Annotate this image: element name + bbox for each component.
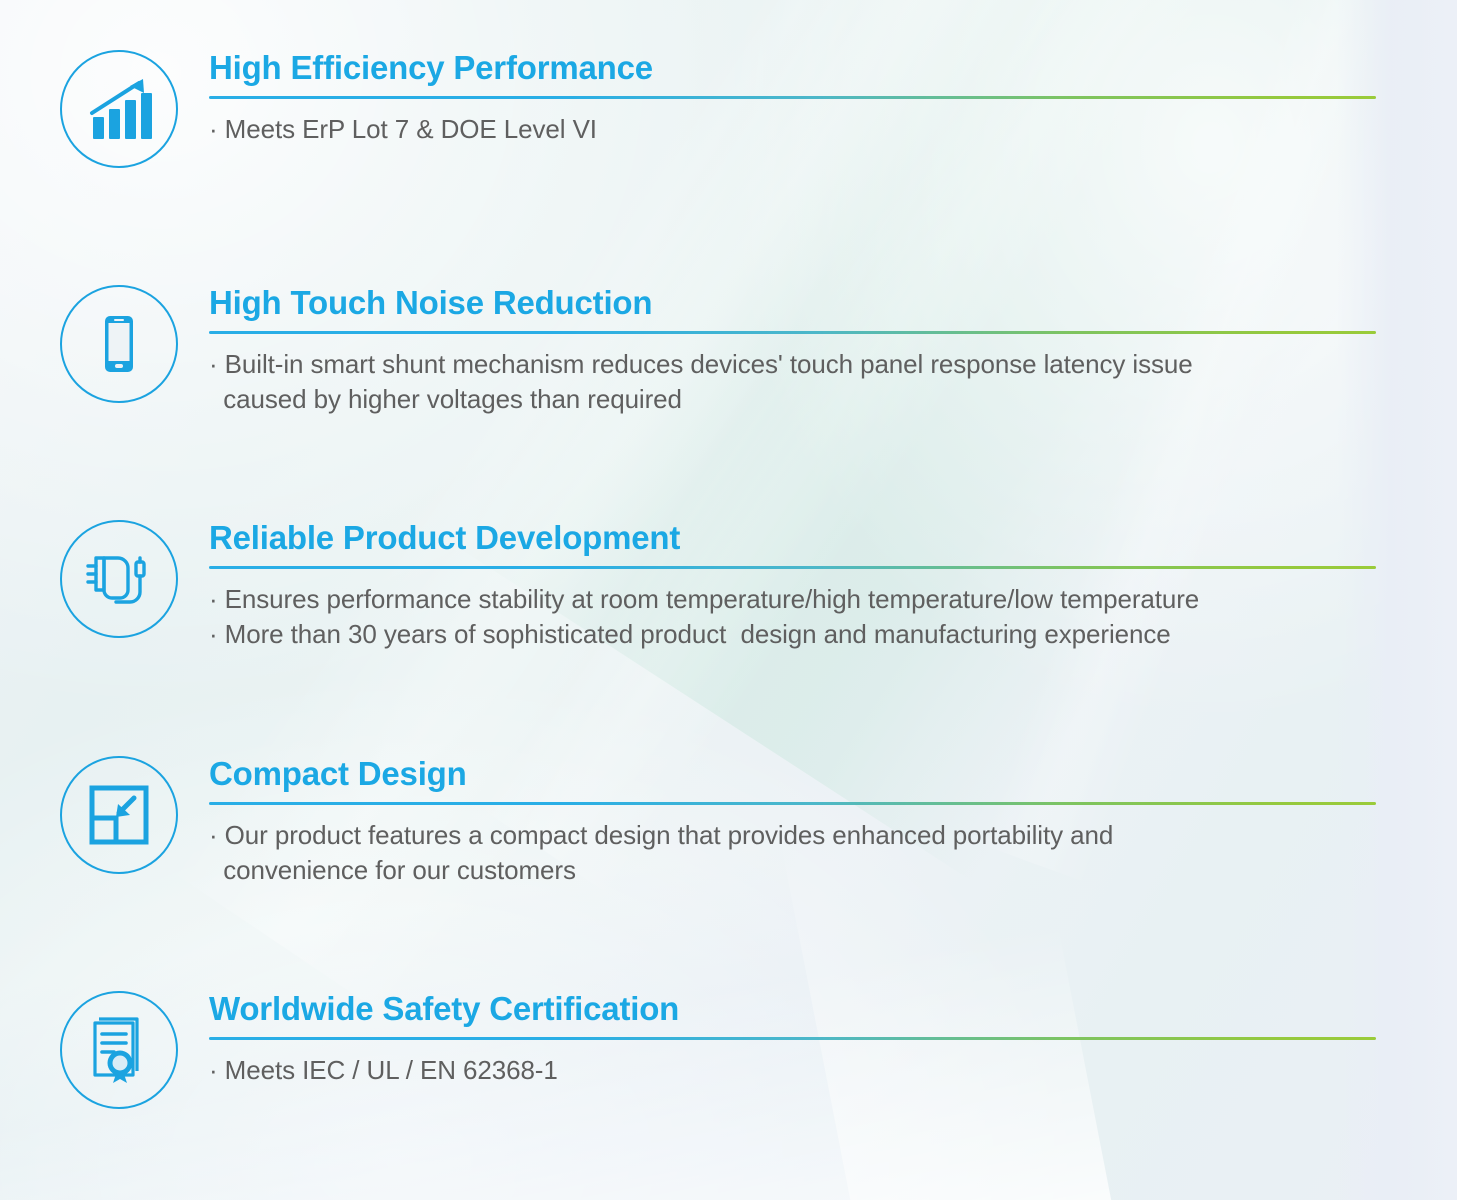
feature-divider (209, 1037, 1376, 1040)
feature-bullet: · Our product features a compact design … (209, 818, 1389, 853)
feature-icon-circle (60, 520, 178, 638)
feature-bullets: · Built-in smart shunt mechanism reduces… (209, 347, 1389, 416)
compact-resize-icon (88, 784, 150, 846)
feature-title: Worldwide Safety Certification (209, 991, 1389, 1028)
feature-divider (209, 96, 1376, 99)
feature-divider (209, 802, 1376, 805)
bar-chart-growth-icon (83, 73, 155, 145)
feature-title: Reliable Product Development (209, 520, 1389, 557)
feature-content: High Touch Noise Reduction · Built-in sm… (209, 285, 1389, 416)
feature-bullet: · Built-in smart shunt mechanism reduces… (209, 347, 1389, 382)
feature-icon-circle (60, 756, 178, 874)
certificate-seal-icon (87, 1017, 151, 1083)
feature-content: Compact Design · Our product features a … (209, 756, 1389, 887)
feature-content: Reliable Product Development · Ensures p… (209, 520, 1389, 651)
feature-bullet: caused by higher voltages than required (209, 382, 1389, 417)
power-adapter-icon (82, 544, 156, 614)
feature-content: Worldwide Safety Certification · Meets I… (209, 991, 1389, 1088)
feature-divider (209, 331, 1376, 334)
feature-title: Compact Design (209, 756, 1389, 793)
feature-bullets: · Meets ErP Lot 7 & DOE Level VI (209, 112, 1389, 147)
feature-bullet: · More than 30 years of sophisticated pr… (209, 617, 1389, 652)
feature-bullets: · Meets IEC / UL / EN 62368-1 (209, 1053, 1389, 1088)
feature-title: High Efficiency Performance (209, 50, 1389, 87)
feature-bullet: · Meets IEC / UL / EN 62368-1 (209, 1053, 1389, 1088)
feature-content: High Efficiency Performance · Meets ErP … (209, 50, 1389, 147)
feature-title: High Touch Noise Reduction (209, 285, 1389, 322)
feature-icon-circle (60, 50, 178, 168)
feature-bullet: · Meets ErP Lot 7 & DOE Level VI (209, 112, 1389, 147)
feature-divider (209, 566, 1376, 569)
feature-list: High Efficiency Performance · Meets ErP … (0, 0, 1457, 1200)
feature-bullets: · Ensures performance stability at room … (209, 582, 1389, 651)
feature-bullet: · Ensures performance stability at room … (209, 582, 1389, 617)
smartphone-icon (87, 312, 151, 376)
feature-bullets: · Our product features a compact design … (209, 818, 1389, 887)
feature-bullet: convenience for our customers (209, 853, 1389, 888)
feature-icon-circle (60, 991, 178, 1109)
feature-icon-circle (60, 285, 178, 403)
